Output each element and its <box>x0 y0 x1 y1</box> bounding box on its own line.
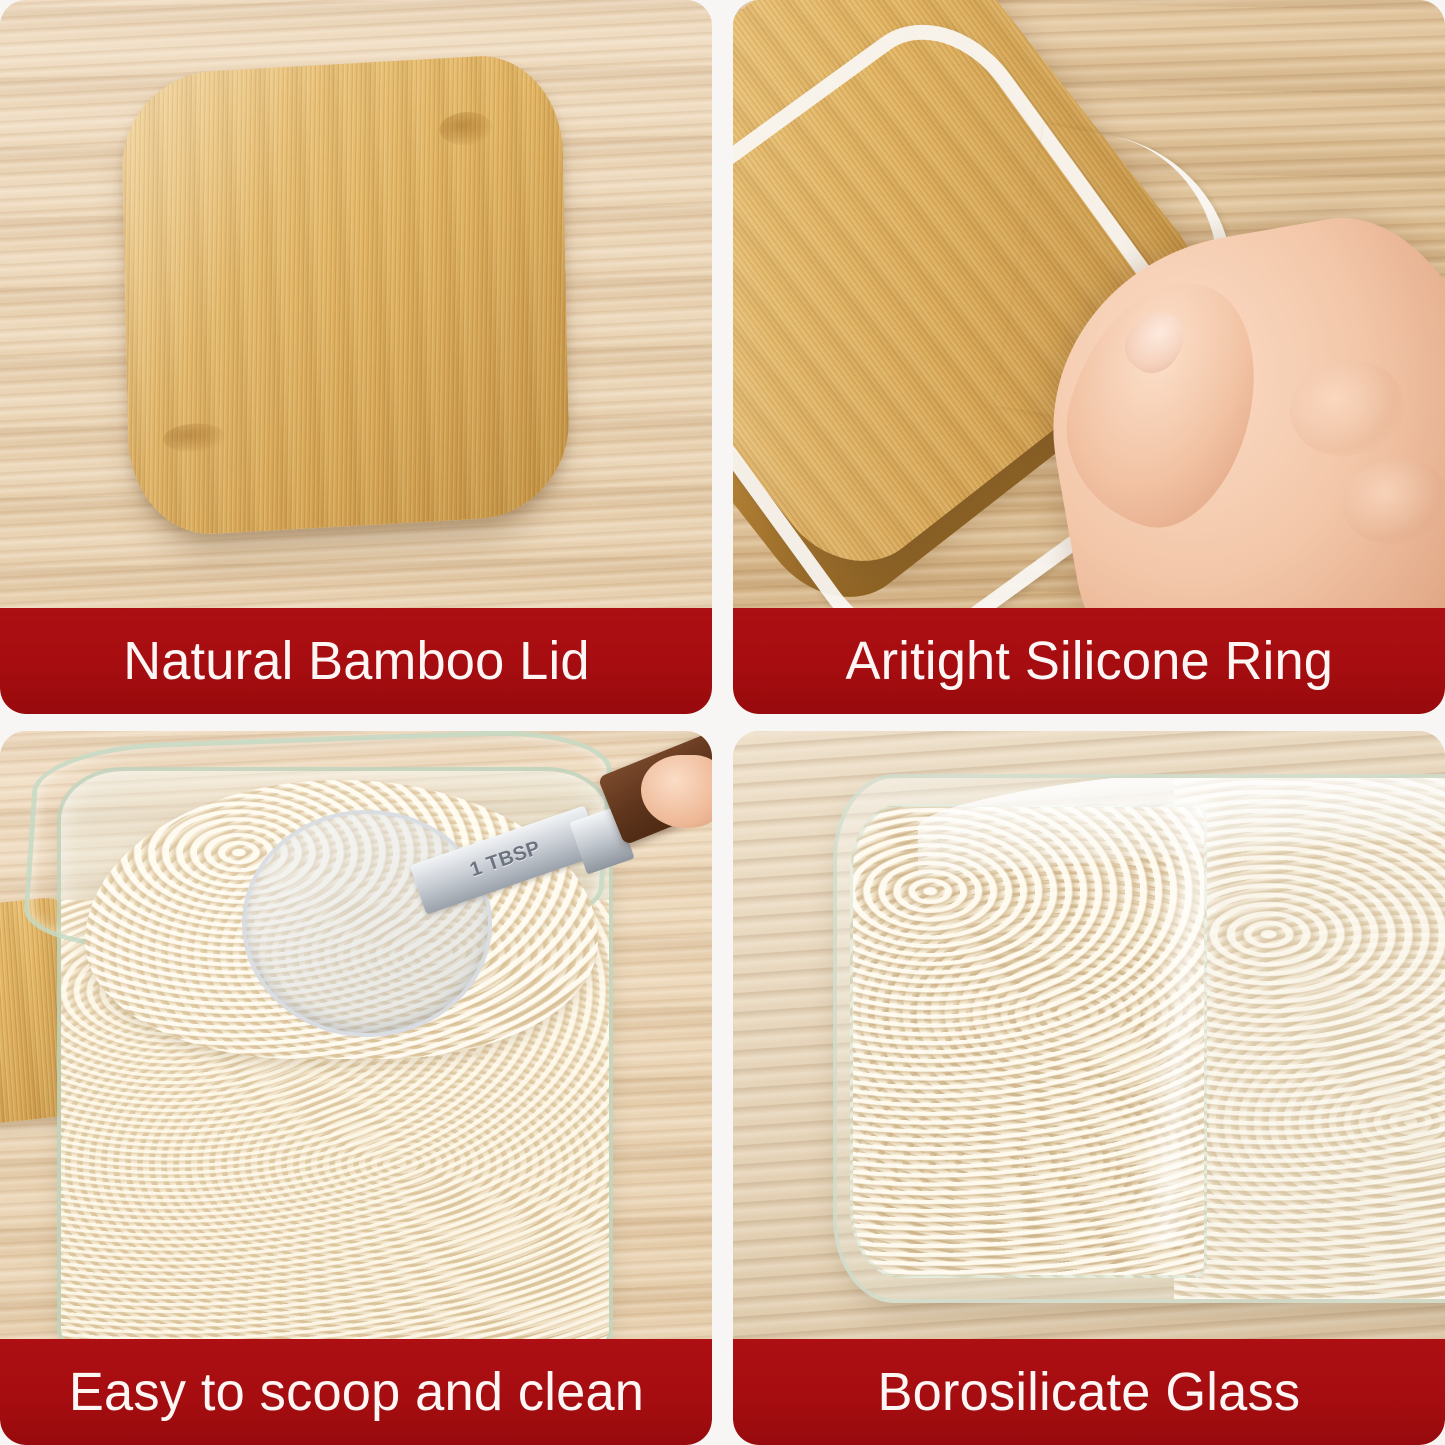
caption-label: Easy to scoop and clean <box>68 1365 643 1419</box>
caption-label: Aritight Silicone Ring <box>845 634 1333 688</box>
caption-bar-scoop: Easy to scoop and clean <box>0 1339 712 1445</box>
caption-bar-glass: Borosilicate Glass <box>733 1339 1445 1445</box>
panel-scoop[interactable]: 1 TBSP Easy to scoop and clean <box>0 731 712 1445</box>
rolled-oats-body <box>1174 778 1445 1299</box>
caption-bar-silicone-ring: Aritight Silicone Ring <box>733 608 1445 714</box>
panel-bamboo-lid[interactable]: Natural Bamboo Lid <box>0 0 712 714</box>
knuckle-highlight <box>1282 352 1411 465</box>
bamboo-lid-sheen <box>120 51 570 538</box>
bamboo-knot-icon <box>439 111 493 146</box>
knuckle-highlight <box>1335 450 1445 552</box>
product-feature-infographic: Natural Bamboo Lid Aritight Silicone Rin… <box>0 0 1445 1445</box>
panel-silicone-ring-photo <box>733 0 1445 608</box>
caption-label: Natural Bamboo Lid <box>123 634 589 688</box>
panel-silicone-ring[interactable]: Aritight Silicone Ring <box>733 0 1445 714</box>
measuring-scoop-bowl <box>242 810 492 1037</box>
panel-bamboo-lid-photo <box>0 0 712 608</box>
bamboo-lid <box>120 51 570 538</box>
bamboo-knot-icon <box>163 422 225 453</box>
caption-bar-bamboo-lid: Natural Bamboo Lid <box>0 608 712 714</box>
thumbnail <box>1115 300 1197 383</box>
caption-label: Borosilicate Glass <box>878 1365 1301 1419</box>
rolled-oats-front-face <box>850 804 1207 1278</box>
panel-glass-photo <box>733 731 1445 1339</box>
panel-scoop-photo: 1 TBSP <box>0 731 712 1339</box>
glass-container <box>833 774 1445 1303</box>
panel-glass[interactable]: Borosilicate Glass <box>733 731 1445 1445</box>
